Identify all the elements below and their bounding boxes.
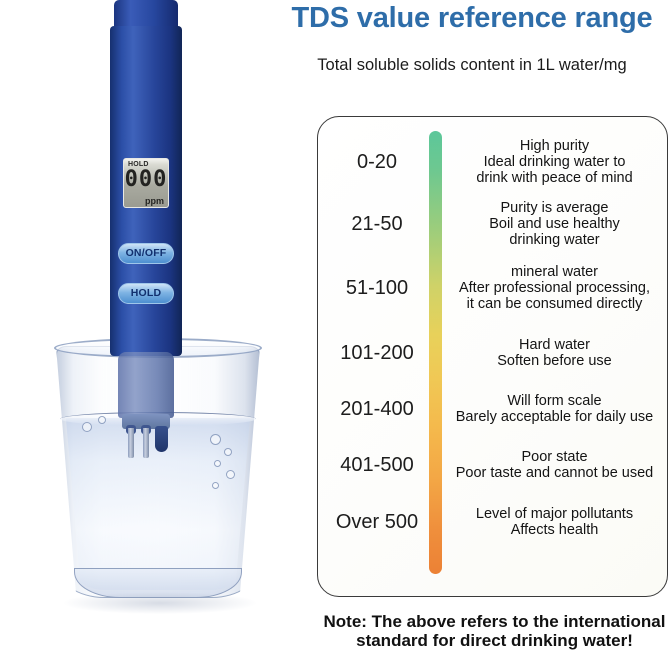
row-description-line: mineral water [448, 264, 661, 280]
probe-sensor [155, 426, 168, 452]
row-description-line: Purity is average [448, 200, 661, 216]
tds-reference-infographic: TDS value reference range Total soluble … [0, 0, 672, 659]
row-description-line: Hard water [448, 337, 661, 353]
lcd-reading: 000 [124, 169, 168, 191]
bubble-icon [226, 470, 235, 479]
row-description: Purity is averageBoil and use healthydri… [448, 200, 667, 249]
table-row: 0-20High purityIdeal drinking water todr… [318, 133, 667, 191]
row-range-label: 0-20 [318, 151, 426, 174]
bubble-icon [82, 422, 92, 432]
row-description-line: drinking water [448, 232, 661, 248]
reference-rows: 0-20High purityIdeal drinking water todr… [318, 117, 667, 596]
row-description: Will form scaleBarely acceptable for dai… [448, 393, 667, 425]
footnote: Note: The above refers to the internatio… [322, 613, 667, 650]
glass-shadow [64, 592, 256, 614]
row-description-line: Soften before use [448, 353, 661, 369]
meter-cap [114, 0, 178, 28]
footnote-line-1: Note: The above refers to the internatio… [322, 613, 667, 632]
row-range-label: Over 500 [318, 511, 426, 534]
bubble-icon [98, 416, 106, 424]
row-description: mineral waterAfter professional processi… [448, 264, 667, 313]
row-description: Hard waterSoften before use [448, 337, 667, 369]
row-description-line: High purity [448, 138, 661, 154]
footnote-line-2: standard for direct drinking water! [322, 632, 667, 651]
meter-lower-shaft [118, 352, 174, 418]
row-description-line: it can be consumed directly [448, 296, 661, 312]
table-row: 51-100mineral waterAfter professional pr… [318, 257, 667, 319]
hold-button[interactable]: HOLD [118, 283, 174, 304]
power-button[interactable]: ON/OFF [118, 243, 174, 264]
row-description-line: After professional processing, [448, 280, 661, 296]
row-range-label: 51-100 [318, 277, 426, 300]
row-description: Level of major pollutantsAffects health [448, 506, 667, 538]
row-range-label: 401-500 [318, 454, 426, 477]
page-subtitle: Total soluble solids content in 1L water… [272, 56, 672, 75]
row-description-line: Will form scale [448, 393, 661, 409]
row-description-line: Level of major pollutants [448, 506, 661, 522]
lcd-unit-label: ppm [145, 196, 164, 206]
row-description: Poor statePoor taste and cannot be used [448, 449, 667, 481]
page-title: TDS value reference range [272, 2, 672, 35]
reference-range-card: 0-20High purityIdeal drinking water todr… [317, 116, 668, 597]
row-description-line: Barely acceptable for daily use [448, 409, 661, 425]
tds-meter-device: HOLD 000 ppm ON/OFF HOLD [108, 0, 184, 470]
row-range-label: 21-50 [318, 213, 426, 236]
row-description-line: Poor state [448, 449, 661, 465]
table-row: 21-50Purity is averageBoil and use healt… [318, 195, 667, 253]
row-description-line: drink with peace of mind [448, 170, 661, 186]
row-description-line: Boil and use healthy [448, 216, 661, 232]
table-row: 101-200Hard waterSoften before use [318, 329, 667, 377]
table-row: 201-400Will form scaleBarely acceptable … [318, 385, 667, 433]
probe-pin [143, 428, 149, 458]
bubble-icon [212, 482, 219, 489]
row-description-line: Affects health [448, 522, 661, 538]
bubble-icon [224, 448, 232, 456]
lcd-screen: HOLD 000 ppm [123, 158, 169, 208]
table-row: Over 500Level of major pollutantsAffects… [318, 499, 667, 545]
row-description-line: Ideal drinking water to [448, 154, 661, 170]
row-description-line: Poor taste and cannot be used [448, 465, 661, 481]
bubble-icon [214, 460, 221, 467]
row-description: High purityIdeal drinking water todrink … [448, 138, 667, 187]
row-range-label: 201-400 [318, 398, 426, 421]
probe-pin [128, 428, 134, 458]
row-range-label: 101-200 [318, 342, 426, 365]
table-row: 401-500Poor statePoor taste and cannot b… [318, 441, 667, 489]
bubble-icon [210, 434, 221, 445]
